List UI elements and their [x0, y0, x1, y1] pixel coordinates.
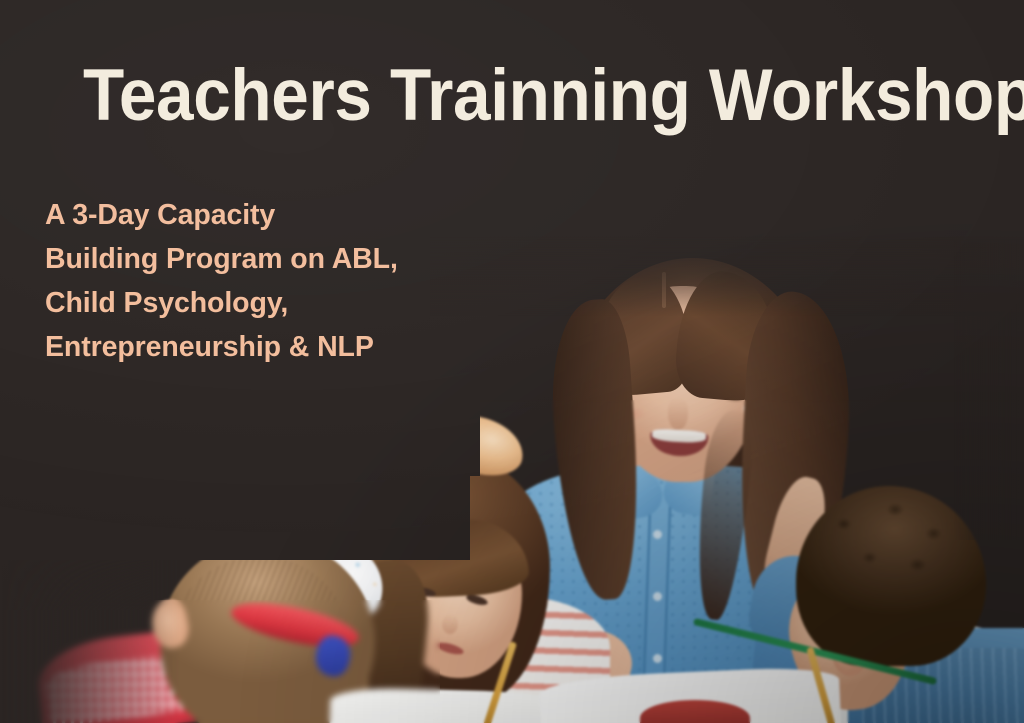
teacher-hair-part: [662, 272, 666, 308]
child-ear: [147, 597, 192, 651]
teacher-eye-right: [700, 378, 727, 391]
teacher-shirt-button: [653, 654, 662, 663]
teacher-bracelet: [755, 547, 811, 572]
teacher-smile: [649, 429, 708, 458]
boy-hair: [796, 486, 986, 666]
teacher-shirt-pattern: [502, 466, 832, 696]
girl-peach-bow-mouth: [435, 640, 464, 656]
teacher-finger: [792, 450, 809, 477]
peach-hair-bow-right: [435, 410, 529, 482]
floral-hair-bow-left: [239, 494, 337, 579]
pencil: [806, 647, 836, 723]
teacher-neck: [632, 430, 706, 530]
page-title: Teachers Trainning Workshop: [83, 59, 1024, 132]
photo-edge-fade-left: [0, 420, 180, 723]
girl-peach-bow-eye-left: [413, 586, 436, 598]
child-ponytail: [212, 626, 373, 723]
photo-edge-fade-left-lower: [0, 540, 150, 610]
teacher-face: [606, 286, 760, 482]
pencil: [482, 641, 517, 723]
girl-peach-bow-nose: [442, 614, 458, 634]
paper-sheet: [539, 665, 841, 723]
paper-sheet: [330, 687, 571, 723]
floral-print: [239, 494, 337, 579]
boy-arm: [758, 472, 834, 600]
photo-foreground-blur: [0, 600, 440, 723]
teacher-hair-left: [546, 298, 647, 603]
teacher-forearm: [751, 466, 825, 603]
floral-hair-bow-right: [291, 534, 393, 632]
teacher-teeth: [652, 429, 707, 444]
teacher-hair-back: [565, 258, 820, 618]
girl-peach-bow-fringe: [386, 516, 530, 599]
subtitle-block: A 3-Day Capacity Building Program on ABL…: [45, 193, 398, 369]
red-notebook: [640, 700, 750, 723]
table-surface: [430, 630, 1024, 723]
teacher-eyebrow-right: [696, 362, 731, 373]
teacher-hand: [747, 428, 820, 508]
girl-peach-bow-sleeve: [311, 602, 402, 706]
girl-peach-bow-hair: [340, 452, 550, 702]
girl-peach-bow-shirt: [330, 596, 610, 723]
subtitle-line-4: Entrepreneurship & NLP: [45, 325, 398, 369]
teacher-finger: [757, 446, 780, 475]
teacher-collar-right: [661, 465, 716, 518]
photo-edge-fade-right: [954, 240, 1024, 540]
child-red-top-lace: [43, 647, 239, 723]
teacher-nose: [668, 398, 688, 430]
teacher-hair-right: [733, 289, 855, 624]
boy-face: [783, 564, 917, 716]
subtitle-line-2: Building Program on ABL,: [45, 237, 398, 281]
boy-denim-shirt: [848, 628, 1024, 723]
boy-shirt-folds: [862, 648, 1024, 723]
subtitle-line-3: Child Psychology,: [45, 281, 398, 325]
table-surface-back: [560, 616, 1024, 723]
child-red-top: [34, 623, 252, 723]
boy-hair-curls: [812, 488, 972, 608]
teacher-collar-left: [608, 466, 666, 522]
girl-peach-bow-shirt-stripes: [330, 596, 610, 723]
photo-edge-fade-top: [430, 236, 1024, 316]
blue-hair-clip: [312, 632, 355, 679]
teacher-hair-right-fringe: [673, 268, 784, 404]
girl-peach-bow-ponytail: [314, 515, 411, 675]
girl-peach-bow-arm: [497, 611, 638, 723]
teacher-watch: [792, 538, 816, 562]
floral-hair-bow-knot: [296, 540, 322, 566]
teacher-finger: [775, 443, 796, 473]
teacher-eye-left: [634, 380, 661, 393]
red-hair-tie: [228, 595, 362, 655]
boy-sleeve: [745, 549, 846, 655]
teacher-hair-strand: [689, 408, 757, 622]
poster-canvas: Teachers Trainning Workshop A 3-Day Capa…: [0, 0, 1024, 723]
child-head-back: [160, 538, 375, 723]
peach-hair-bow-knot: [426, 430, 464, 468]
peach-hair-bow-left: [366, 414, 463, 491]
photo-softening-layer: [0, 400, 1024, 723]
girl-floral-bow-hair: [328, 556, 434, 723]
boy-ear: [829, 628, 869, 678]
child-hair-strands: [170, 556, 350, 723]
girl-peach-bow-neck: [430, 660, 490, 708]
teacher-hair-left-fringe: [591, 272, 693, 398]
teacher-shirt: [502, 466, 832, 696]
subtitle-line-1: A 3-Day Capacity: [45, 193, 398, 237]
teacher-arm: [750, 496, 866, 705]
floral-print: [291, 534, 393, 632]
teacher-earring: [744, 404, 753, 413]
green-marker: [693, 618, 937, 685]
teacher-shirt-placket: [642, 492, 671, 698]
girl-peach-bow-eye-right: [465, 593, 488, 607]
teacher-cheek: [618, 404, 650, 424]
teacher-shirt-button: [653, 592, 662, 601]
teacher-shirt-button: [653, 530, 662, 539]
teacher-eyebrow-left: [629, 364, 664, 375]
girl-peach-bow-face: [396, 532, 522, 678]
